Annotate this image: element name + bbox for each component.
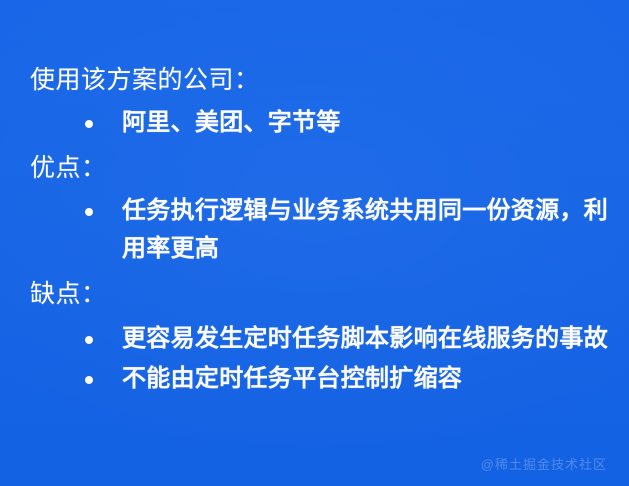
bullet-dot-icon bbox=[85, 120, 93, 128]
bullet-dot-icon bbox=[85, 336, 93, 344]
list-item: 任务执行逻辑与业务系统共用同一份资源，利用率更高 bbox=[30, 192, 619, 268]
bullet-list-companies: 阿里、美团、字节等 bbox=[30, 104, 619, 142]
list-item-label: 任务执行逻辑与业务系统共用同一份资源，利用率更高 bbox=[122, 192, 619, 268]
bullet-list-pros: 任务执行逻辑与业务系统共用同一份资源，利用率更高 bbox=[30, 192, 619, 268]
list-item-label: 阿里、美团、字节等 bbox=[122, 104, 619, 142]
bullet-list-cons: 更容易发生定时任务脚本影响在线服务的事故 不能由定时任务平台控制扩缩容 bbox=[30, 320, 619, 398]
bullet-dot-icon bbox=[85, 376, 93, 384]
list-item: 更容易发生定时任务脚本影响在线服务的事故 bbox=[30, 320, 619, 358]
watermark: @稀土掘金技术社区 bbox=[481, 456, 607, 474]
list-item: 阿里、美团、字节等 bbox=[30, 104, 619, 142]
section-heading-companies: 使用该方案的公司： bbox=[30, 60, 619, 100]
slide-canvas: 使用该方案的公司： 阿里、美团、字节等 优点： 任务执行逻辑与业务系统共用同一份… bbox=[0, 0, 629, 486]
slide-content: 使用该方案的公司： 阿里、美团、字节等 优点： 任务执行逻辑与业务系统共用同一份… bbox=[0, 0, 629, 398]
bullet-dot-icon bbox=[85, 208, 93, 216]
list-item-label: 不能由定时任务平台控制扩缩容 bbox=[122, 360, 619, 398]
list-item: 不能由定时任务平台控制扩缩容 bbox=[30, 360, 619, 398]
section-heading-cons: 缺点： bbox=[30, 274, 619, 314]
list-item-label: 更容易发生定时任务脚本影响在线服务的事故 bbox=[122, 320, 619, 358]
section-heading-pros: 优点： bbox=[30, 148, 619, 188]
